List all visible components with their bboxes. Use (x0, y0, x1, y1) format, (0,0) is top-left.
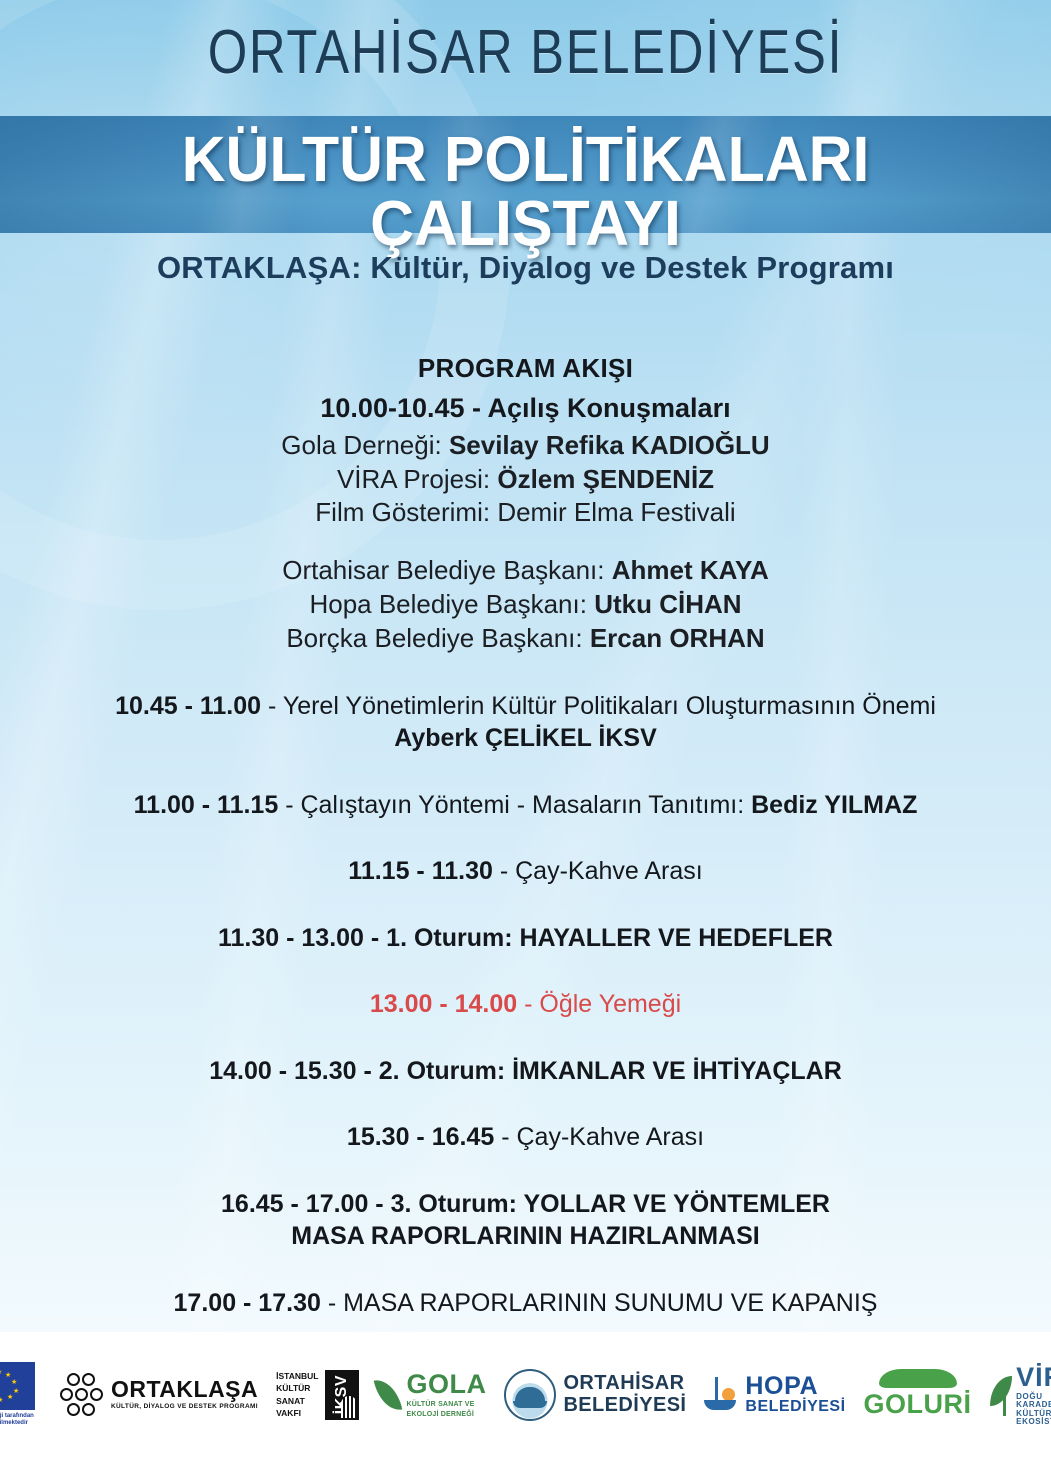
schedule-row: 17.00 - 17.30 - MASA RAPORLARININ SUNUMU… (0, 1287, 1051, 1320)
spacer (0, 1021, 1051, 1055)
eu-caption: Avrupa Birliği tarafından finanse edilme… (0, 1413, 42, 1428)
mayor-role: Hopa Belediye Başkanı: (309, 589, 587, 619)
schedule-row: 11.30 - 13.00 - 1. Oturum: HAYALLER VE H… (0, 922, 1051, 955)
ortaklasa-name: ORTAKLAŞA (111, 1378, 258, 1401)
gola-logo: GOLA KÜLTÜR SANAT VE EKOLOJİ DERNEĞİ (377, 1371, 486, 1418)
mayor-name: Utku CİHAN (594, 589, 741, 619)
slot-dash: - (278, 791, 300, 819)
poster-canvas: ORTAHİSAR BELEDİYESİ KÜLTÜR POLİTİKALARI… (0, 0, 1051, 1457)
schedule-row-secondline: Ayberk ÇELİKEL İKSV (0, 722, 1051, 755)
ortaklasa-logo: ORTAKLAŞA KÜLTÜR, DİYALOG VE DESTEK PROG… (60, 1373, 258, 1417)
ortahisar-text: ORTAHİSAR BELEDİYESİ (563, 1373, 686, 1415)
list-item: Hopa Belediye Başkanı: Utku CİHAN (0, 588, 1051, 622)
spacer (0, 954, 1051, 988)
slot-dash: - (493, 857, 515, 885)
spacer (0, 1154, 1051, 1188)
spacer (0, 656, 1051, 690)
list-item: Film Gösterimi: Demir Elma Festivali (0, 496, 1051, 530)
vira-stem-shape (1003, 1388, 1006, 1416)
vira-tagline-1: DOĞU KARADENİZ KÜLTÜR (1016, 1393, 1051, 1418)
slot-time: 13.00 - 14.00 (370, 990, 517, 1018)
goluri-logo: GOLURİ (864, 1369, 972, 1420)
spacer (0, 1087, 1051, 1121)
iksv-word-sanat: SANAT (276, 1395, 318, 1407)
iksv-mark-text: İKSV (333, 1375, 351, 1414)
slot-time: 11.00 - 11.15 (134, 791, 279, 819)
schedule-row: 15.30 - 16.45 - Çay-Kahve Arası (0, 1121, 1051, 1154)
iksv-word-vakfi: VAKFI (276, 1407, 318, 1419)
eu-caption-line2: finanse edilmektedir (0, 1420, 28, 1426)
vira-name: VİRA (1016, 1363, 1051, 1391)
eu-flag-icon: ★ ★ ★ ★ ★ ★ ★ ★ ★ ★ (0, 1362, 35, 1410)
slot-text: Çay-Kahve Arası (515, 857, 703, 885)
ortaklasa-tagline: KÜLTÜR, DİYALOG VE DESTEK PROGRAMI (111, 1404, 258, 1411)
schedule-row: 11.00 - 11.15 - Çalıştayın Yöntemi - Mas… (0, 789, 1051, 822)
spacer (0, 755, 1051, 789)
iksv-word-kultur: KÜLTÜR (276, 1382, 318, 1394)
goluri-tree-icon (879, 1369, 957, 1388)
opening-slot: 10.00-10.45 - Açılış Konuşmaları (0, 391, 1051, 426)
schedule-row-secondline: MASA RAPORLARININ HAZIRLANMASI (0, 1220, 1051, 1253)
event-title: KÜLTÜR POLİTİKALARI ÇALIŞTAYI (26, 127, 1024, 255)
vira-leaf-icon (990, 1372, 1010, 1418)
iksv-word-istanbul: İSTANBUL (276, 1370, 318, 1382)
mayor-role: Borçka Belediye Başkanı: (286, 623, 582, 653)
speaker-role: Gola Derneği: (281, 430, 441, 460)
vira-tagline-2: EKOSİSTEMİ (1016, 1418, 1051, 1426)
iksv-logo: İSTANBUL KÜLTÜR SANAT VAKFI İKSV (276, 1370, 359, 1420)
hopa-line1: HOPA (745, 1373, 845, 1399)
schedule-row: 11.15 - 11.30 - Çay-Kahve Arası (0, 855, 1051, 888)
gola-tagline-1: KÜLTÜR SANAT VE (406, 1401, 486, 1408)
slot-dash: - (261, 692, 283, 720)
vira-logo: VİRA DOĞU KARADENİZ KÜLTÜR EKOSİSTEMİ (990, 1363, 1051, 1427)
slot-emphasis: Bediz YILMAZ (751, 791, 917, 819)
gola-name: GOLA (406, 1371, 486, 1398)
slot-dash: - (494, 1123, 516, 1151)
slot-time: 17.00 - 17.30 (174, 1289, 321, 1317)
program-schedule: PROGRAM AKIŞI 10.00-10.45 - Açılış Konuş… (0, 352, 1051, 1319)
schedule-row: 16.45 - 17.00 - 3. Oturum: YOLLAR VE YÖN… (0, 1188, 1051, 1221)
slot-text: MASA RAPORLARININ SUNUMU VE KAPANIŞ (343, 1289, 877, 1317)
footer-logo-bar: ★ ★ ★ ★ ★ ★ ★ ★ ★ ★ Avrupa Birliği taraf… (0, 1332, 1051, 1457)
schedule-row: 10.45 - 11.00 - Yerel Yönetimlerin Kültü… (0, 690, 1051, 723)
list-item: Borçka Belediye Başkanı: Ercan ORHAN (0, 622, 1051, 656)
eu-caption-line1: Avrupa Birliği tarafından (0, 1413, 34, 1419)
slot-time: 11.15 - 11.30 (348, 857, 493, 885)
speaker-role: VİRA Projesi: (337, 464, 490, 494)
slot-text: Çalıştayın Yöntemi - Masaların Tanıtımı: (300, 791, 751, 819)
mayor-name: Ahmet KAYA (612, 555, 769, 585)
slot-time: 10.45 - 11.00 (115, 692, 261, 720)
hopa-text: HOPA BELEDİYESİ (745, 1373, 845, 1416)
ortaklasa-circles-icon (60, 1373, 104, 1417)
program-subtitle: ORTAKLAŞA: Kültür, Diyalog ve Destek Pro… (0, 250, 1051, 286)
spacer (0, 821, 1051, 855)
spacer (0, 888, 1051, 922)
slot-time: 15.30 - 16.45 (347, 1123, 494, 1151)
slot-text: Öğle Yemeği (539, 990, 681, 1018)
spacer (0, 1253, 1051, 1287)
page-title: ORTAHİSAR BELEDİYESİ (95, 22, 957, 84)
schedule-row-lunch: 13.00 - 14.00 - Öğle Yemeği (0, 988, 1051, 1021)
spacer (0, 530, 1051, 554)
hopa-belediyesi-logo: HOPA BELEDİYESİ (704, 1373, 845, 1416)
slot-text: Yerel Yönetimlerin Kültür Politikaları O… (283, 692, 936, 720)
ortahisar-line2: BELEDİYESİ (563, 1395, 686, 1416)
hopa-wave-icon (704, 1400, 736, 1410)
schedule-row: 14.00 - 15.30 - 2. Oturum: İMKANLAR VE İ… (0, 1055, 1051, 1088)
eu-stars-icon: ★ ★ ★ ★ ★ ★ ★ ★ ★ ★ (0, 1362, 35, 1410)
list-item: Ortahisar Belediye Başkanı: Ahmet KAYA (0, 554, 1051, 588)
logo-strip: ★ ★ ★ ★ ★ ★ ★ ★ ★ ★ Avrupa Birliği taraf… (0, 1332, 1051, 1457)
hopa-mast-icon (715, 1377, 718, 1401)
ortahisar-line1: ORTAHİSAR (563, 1373, 686, 1394)
goluri-name: GOLURİ (864, 1389, 972, 1420)
speaker-name: Sevilay Refika KADIOĞLU (449, 430, 770, 460)
hopa-boat-icon (704, 1374, 738, 1416)
iksv-words: İSTANBUL KÜLTÜR SANAT VAKFI (276, 1370, 318, 1419)
speaker-role: Film Gösterimi: (315, 497, 490, 527)
vira-leaf-shape (990, 1376, 1012, 1406)
program-heading: PROGRAM AKIŞI (0, 352, 1051, 386)
mayor-role: Ortahisar Belediye Başkanı: (282, 555, 604, 585)
gola-tagline-2: EKOLOJİ DERNEĞİ (406, 1411, 486, 1418)
ortahisar-belediyesi-logo: ORTAHİSAR BELEDİYESİ (504, 1369, 686, 1421)
mayor-name: Ercan ORHAN (590, 623, 765, 653)
gola-leaf-icon (374, 1376, 403, 1414)
speaker-name: Demir Elma Festivali (497, 497, 735, 527)
ortahisar-seal-icon (504, 1369, 556, 1421)
slot-text: Çay-Kahve Arası (516, 1123, 704, 1151)
slot-dash: - (321, 1289, 343, 1317)
gola-text: GOLA KÜLTÜR SANAT VE EKOLOJİ DERNEĞİ (406, 1371, 486, 1418)
ortaklasa-text: ORTAKLAŞA KÜLTÜR, DİYALOG VE DESTEK PROG… (111, 1378, 258, 1411)
speaker-name: Özlem ŞENDENİZ (497, 464, 714, 494)
iksv-mark-icon: İKSV (325, 1370, 359, 1420)
hopa-sun-icon (722, 1388, 735, 1401)
list-item: VİRA Projesi: Özlem ŞENDENİZ (0, 463, 1051, 497)
eu-flag-logo: ★ ★ ★ ★ ★ ★ ★ ★ ★ ★ Avrupa Birliği taraf… (0, 1362, 42, 1428)
poster-header: ORTAHİSAR BELEDİYESİ KÜLTÜR POLİTİKALARI… (0, 0, 1051, 330)
list-item: Gola Derneği: Sevilay Refika KADIOĞLU (0, 429, 1051, 463)
vira-text: VİRA DOĞU KARADENİZ KÜLTÜR EKOSİSTEMİ (1016, 1363, 1051, 1427)
hopa-line2: BELEDİYESİ (745, 1399, 845, 1416)
slot-dash: - (517, 990, 539, 1018)
